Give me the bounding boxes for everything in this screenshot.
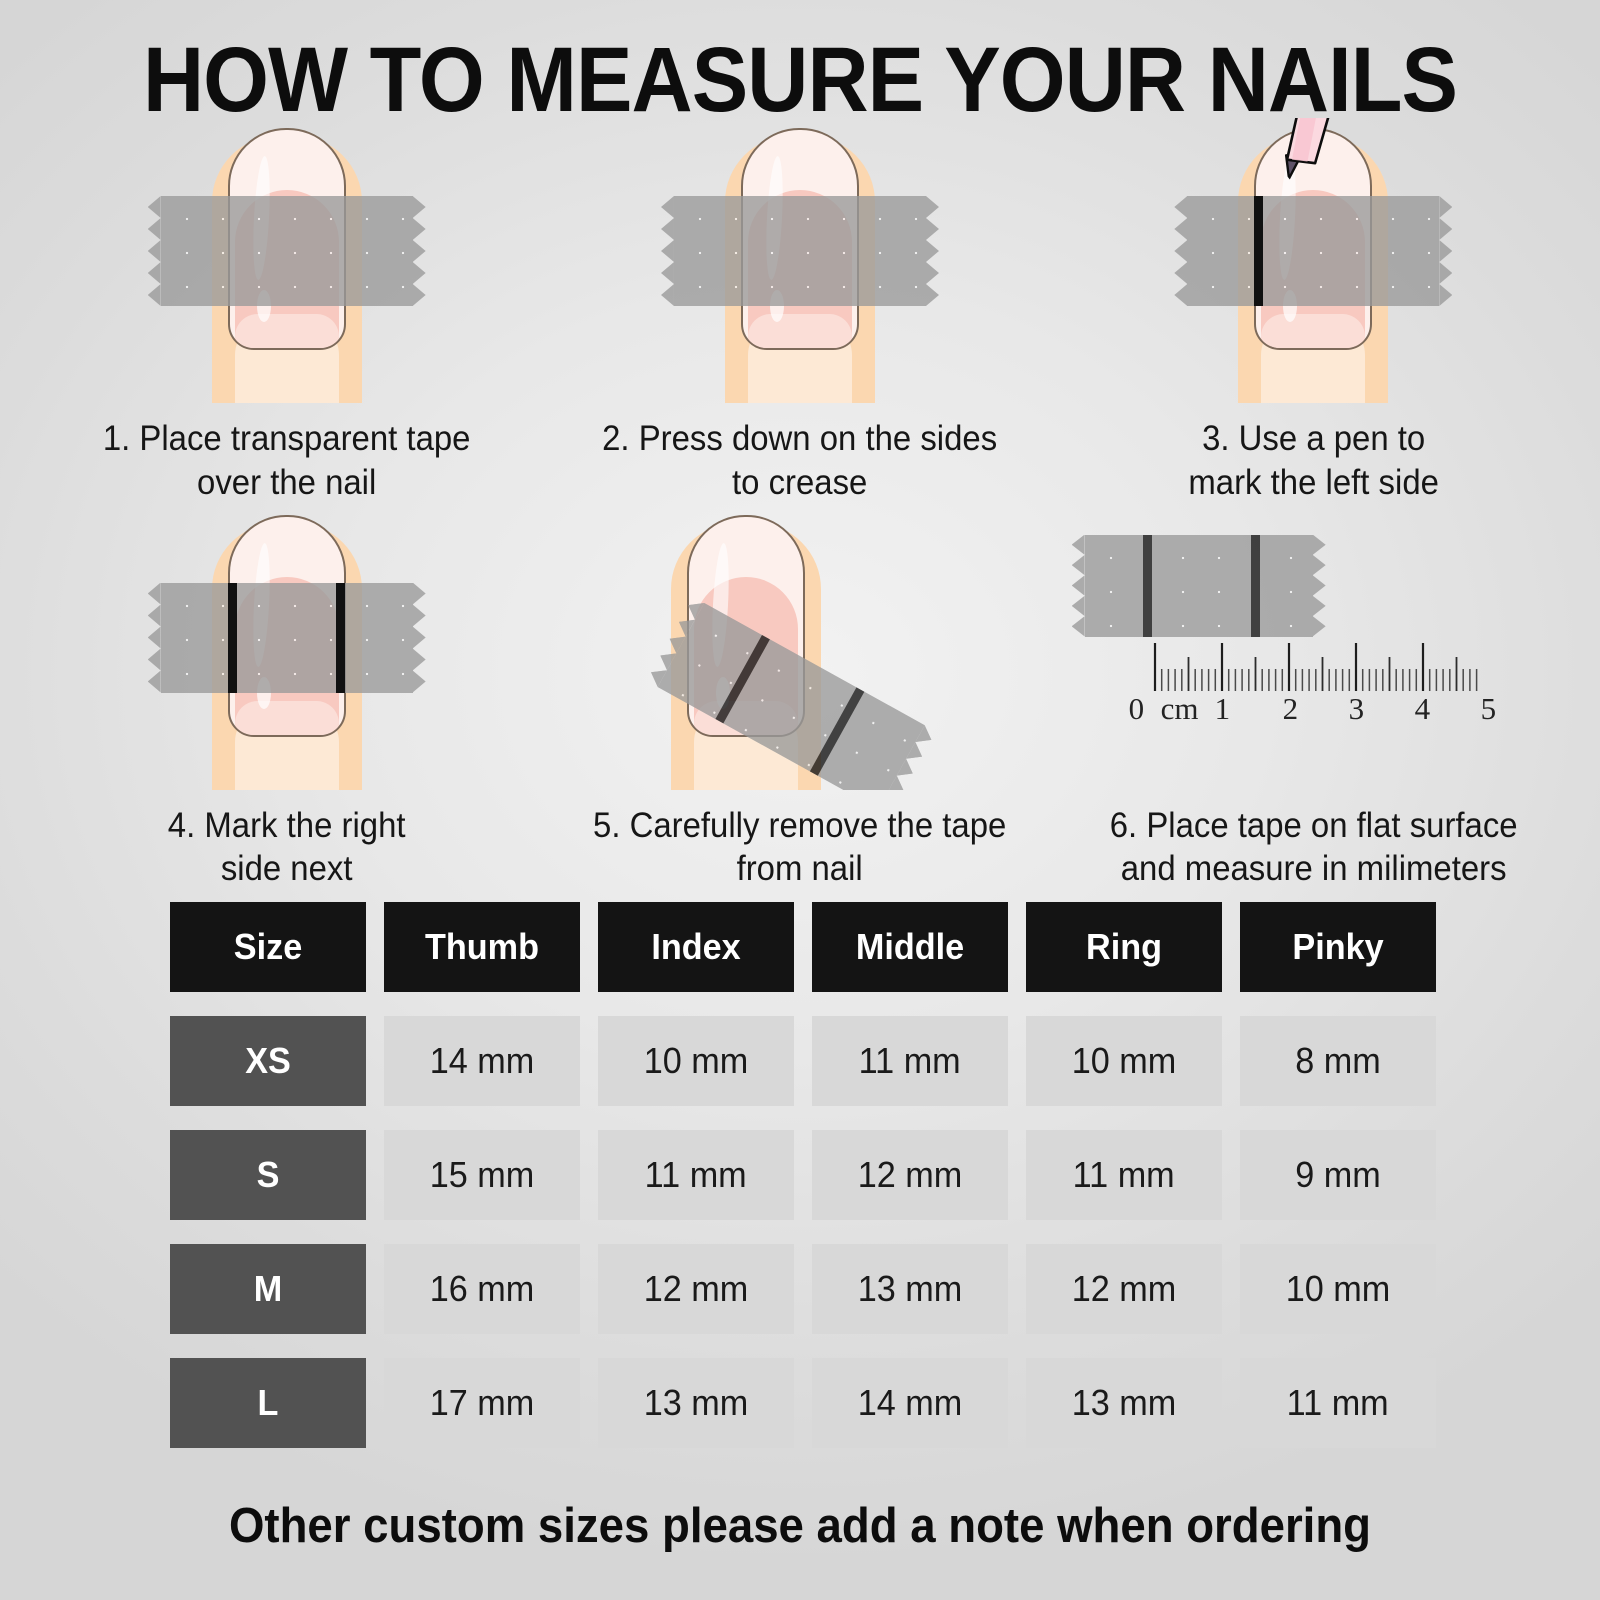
tape-strip	[161, 583, 413, 693]
cell-value: 15 mm	[430, 1154, 535, 1196]
table-cell: 11 mm	[598, 1130, 794, 1220]
table-cell: 11 mm	[812, 1016, 1008, 1106]
ruler-icon	[1129, 633, 1481, 693]
table-cell: 12 mm	[598, 1244, 794, 1334]
ruler-scale-labels: 0 cm 1 2 3 4 5	[1103, 691, 1523, 731]
step-4: 4. Mark the right side next	[30, 505, 543, 892]
step-1-illustration	[30, 118, 543, 403]
ruler-tick	[1328, 669, 1330, 691]
ruler-tick	[1469, 669, 1471, 691]
cell-value: 13 mm	[1072, 1382, 1177, 1424]
ruler-number-1: 1	[1215, 691, 1231, 727]
step-1: 1. Place transparent tape over the nail	[30, 118, 543, 505]
table-header-size: Size	[170, 902, 366, 992]
ruler-unit-label: cm	[1161, 691, 1199, 727]
cell-value: 13 mm	[644, 1382, 749, 1424]
ruler-tick	[1355, 643, 1357, 691]
cell-value: 12 mm	[1072, 1268, 1177, 1310]
ruler-tick	[1261, 669, 1263, 691]
footer-note: Other custom sizes please add a note whe…	[56, 1498, 1544, 1554]
ruler-tick	[1268, 669, 1270, 691]
ruler-tick	[1321, 657, 1323, 691]
ruler-tick	[1362, 669, 1364, 691]
ruler-tick	[1368, 669, 1370, 691]
tape-strip	[1187, 196, 1439, 306]
cell-value: 9 mm	[1295, 1154, 1381, 1196]
table-header-label: Middle	[856, 926, 964, 968]
table-header-label: Size	[234, 926, 302, 968]
table-header-label: Thumb	[425, 926, 539, 968]
table-cell: 14 mm	[812, 1358, 1008, 1448]
step-4-caption: 4. Mark the right side next	[45, 790, 528, 892]
ruler-tick	[1254, 657, 1256, 691]
cell-value: 12 mm	[644, 1268, 749, 1310]
cell-value: 14 mm	[430, 1040, 535, 1082]
step-4-illustration	[30, 505, 543, 790]
ruler-tick	[1402, 669, 1404, 691]
nail-tip-band	[1261, 314, 1365, 348]
tape-texture	[161, 196, 413, 306]
ruler-number-0: 0	[1129, 691, 1145, 727]
size-label: M	[254, 1268, 283, 1310]
size-label: S	[257, 1154, 280, 1196]
table-row-size-label: M	[170, 1244, 366, 1334]
mark-right	[336, 583, 345, 693]
cell-value: 10 mm	[1072, 1040, 1177, 1082]
ruler-tick	[1375, 669, 1377, 691]
table-cell: 13 mm	[812, 1244, 1008, 1334]
ruler-tick	[1348, 669, 1350, 691]
ruler-tick	[1388, 657, 1390, 691]
cell-value: 12 mm	[858, 1154, 963, 1196]
step-5-illustration	[543, 505, 1056, 790]
size-chart-table: SizeThumbIndexMiddleRingPinkyXS14 mm10 m…	[170, 902, 1438, 1448]
ruler-tick	[1442, 669, 1444, 691]
table-cell: 13 mm	[1026, 1358, 1222, 1448]
ruler-tick	[1181, 669, 1183, 691]
cell-value: 8 mm	[1295, 1040, 1381, 1082]
ruler-number-4: 4	[1415, 691, 1431, 727]
step-3-illustration	[1057, 118, 1570, 403]
ruler-tick	[1395, 669, 1397, 691]
table-header-label: Ring	[1086, 926, 1162, 968]
finger-illustration	[1183, 118, 1443, 403]
table-header-label: Pinky	[1292, 926, 1383, 968]
ruler-tick	[1167, 669, 1169, 691]
ruler-tick	[1422, 643, 1424, 691]
ruler-tick	[1214, 669, 1216, 691]
ruler-tick	[1415, 669, 1417, 691]
ruler-tick	[1462, 669, 1464, 691]
table-cell: 9 mm	[1240, 1130, 1436, 1220]
finger-illustration	[559, 505, 979, 790]
table-header-middle: Middle	[812, 902, 1008, 992]
mark-left	[228, 583, 237, 693]
nail-tip-band	[235, 701, 339, 735]
table-cell: 11 mm	[1240, 1358, 1436, 1448]
tape-strip-creased	[674, 196, 926, 306]
step-6-caption: 6. Place tape on flat surface and measur…	[1072, 790, 1555, 892]
ruler-tick	[1154, 643, 1156, 691]
table-cell: 17 mm	[384, 1358, 580, 1448]
table-cell: 12 mm	[812, 1130, 1008, 1220]
cell-value: 16 mm	[430, 1268, 535, 1310]
ruler-tick	[1248, 669, 1250, 691]
table-cell: 14 mm	[384, 1016, 580, 1106]
ruler-tick	[1435, 669, 1437, 691]
table-header-label: Index	[651, 926, 740, 968]
ruler-tick	[1234, 669, 1236, 691]
step-6-illustration: 0 cm 1 2 3 4 5	[1057, 505, 1570, 790]
ruler-tick	[1201, 669, 1203, 691]
ruler-tick	[1455, 657, 1457, 691]
step-3-caption: 3. Use a pen to mark the left side	[1072, 403, 1555, 505]
ruler-tick	[1409, 669, 1411, 691]
ruler-tick	[1208, 669, 1210, 691]
cell-value: 11 mm	[1287, 1382, 1389, 1424]
ruler-tick	[1174, 669, 1176, 691]
table-cell: 12 mm	[1026, 1244, 1222, 1334]
nail-tip-band	[235, 314, 339, 348]
ruler-tick	[1308, 669, 1310, 691]
ruler-tick	[1194, 669, 1196, 691]
cell-value: 13 mm	[858, 1268, 963, 1310]
ruler-tick	[1382, 669, 1384, 691]
ruler-tick	[1449, 669, 1451, 691]
ruler-tick	[1187, 657, 1189, 691]
size-label: XS	[245, 1040, 291, 1082]
table-cell: 10 mm	[1026, 1016, 1222, 1106]
finger-illustration	[157, 118, 417, 403]
page-title: HOW TO MEASURE YOUR NAILS	[64, 0, 1536, 126]
cell-value: 11 mm	[1073, 1154, 1175, 1196]
ruler-tick	[1228, 669, 1230, 691]
ruler-tick	[1221, 643, 1223, 691]
step-5: 5. Carefully remove the tape from nail	[543, 505, 1056, 892]
ruler-tick	[1429, 669, 1431, 691]
finger-illustration	[157, 505, 417, 790]
table-cell: 10 mm	[598, 1016, 794, 1106]
table-header-index: Index	[598, 902, 794, 992]
ruler-number-2: 2	[1283, 691, 1299, 727]
tape-strip-flat	[1085, 535, 1313, 637]
table-header-pinky: Pinky	[1240, 902, 1436, 992]
table-row-size-label: L	[170, 1358, 366, 1448]
ruler-number-3: 3	[1349, 691, 1365, 727]
ruler-tick	[1476, 669, 1478, 691]
cell-value: 11 mm	[645, 1154, 747, 1196]
step-3: 3. Use a pen to mark the left side	[1057, 118, 1570, 505]
ruler-tick	[1275, 669, 1277, 691]
nail-tip-band	[748, 314, 852, 348]
table-cell: 13 mm	[598, 1358, 794, 1448]
ruler-tick	[1161, 669, 1163, 691]
step-2: 2. Press down on the sides to crease	[543, 118, 1056, 505]
ruler-tick	[1281, 669, 1283, 691]
ruler-number-5: 5	[1481, 691, 1497, 727]
ruler-tick	[1288, 643, 1290, 691]
table-cell: 11 mm	[1026, 1130, 1222, 1220]
mark-right	[1251, 535, 1260, 637]
table-header-thumb: Thumb	[384, 902, 580, 992]
table-cell: 8 mm	[1240, 1016, 1436, 1106]
tape-texture	[1187, 196, 1439, 306]
table-cell: 16 mm	[384, 1244, 580, 1334]
mark-left	[1254, 196, 1263, 306]
tape-strip	[161, 196, 413, 306]
cell-value: 17 mm	[430, 1382, 535, 1424]
cell-value: 10 mm	[1286, 1268, 1391, 1310]
table-cell: 10 mm	[1240, 1244, 1436, 1334]
ruler-tick	[1241, 669, 1243, 691]
table-header-ring: Ring	[1026, 902, 1222, 992]
step-6: 0 cm 1 2 3 4 5 6. Place tape on flat sur…	[1057, 505, 1570, 892]
table-cell: 15 mm	[384, 1130, 580, 1220]
step-2-illustration	[543, 118, 1056, 403]
ruler-tick	[1315, 669, 1317, 691]
step-5-caption: 5. Carefully remove the tape from nail	[559, 790, 1042, 892]
table-row-size-label: XS	[170, 1016, 366, 1106]
ruler-tick	[1335, 669, 1337, 691]
finger-illustration	[670, 118, 930, 403]
tape-texture	[674, 196, 926, 306]
tape-texture	[1085, 535, 1313, 637]
cell-value: 14 mm	[858, 1382, 963, 1424]
ruler-tick	[1295, 669, 1297, 691]
cell-value: 10 mm	[644, 1040, 749, 1082]
table-row-size-label: S	[170, 1130, 366, 1220]
size-label: L	[258, 1382, 279, 1424]
mark-left	[1143, 535, 1152, 637]
steps-grid: 1. Place transparent tape over the nail …	[30, 118, 1570, 891]
cell-value: 11 mm	[859, 1040, 961, 1082]
step-1-caption: 1. Place transparent tape over the nail	[45, 403, 528, 505]
step-2-caption: 2. Press down on the sides to crease	[559, 403, 1042, 505]
ruler-tick	[1342, 669, 1344, 691]
tape-texture	[161, 583, 413, 693]
ruler-tick	[1301, 669, 1303, 691]
